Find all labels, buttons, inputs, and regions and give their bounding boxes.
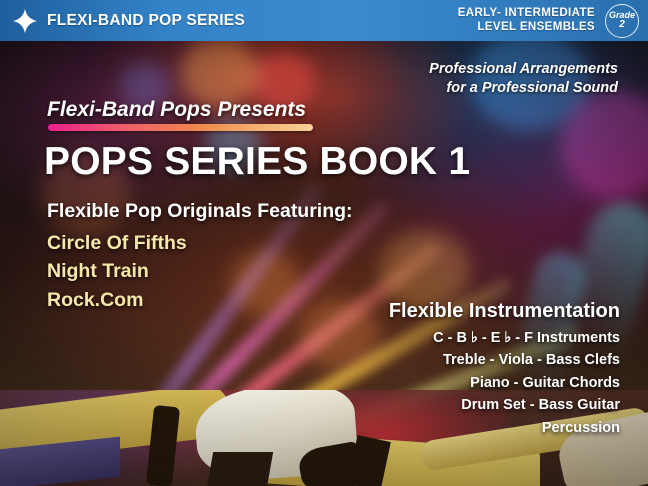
list-item: C - B ♭ - E ♭ - F Instruments (433, 327, 620, 349)
level-label: EARLY- INTERMEDIATE LEVEL ENSEMBLES (458, 7, 595, 34)
brand-title: FLEXI-BAND POP SERIES (47, 12, 245, 30)
page-title: POPS SERIES BOOK 1 (44, 140, 470, 184)
grade-badge-number: 2 (619, 20, 625, 30)
header-bar: FLEXI-BAND POP SERIES EARLY- INTERMEDIAT… (0, 0, 648, 41)
instrumentation-list: C - B ♭ - E ♭ - F Instruments Treble - V… (433, 327, 620, 439)
tagline-line-1: Professional Arrangements (429, 60, 618, 79)
level-line-2: LEVEL ENSEMBLES (458, 21, 595, 35)
poster-cover: FLEXI-BAND POP SERIES EARLY- INTERMEDIAT… (0, 0, 648, 486)
featuring-heading: Flexible Pop Originals Featuring: (47, 200, 353, 223)
tagline: Professional Arrangements for a Professi… (429, 60, 618, 98)
instrumentation-heading: Flexible Instrumentation (389, 300, 620, 323)
list-item: Treble - Viola - Bass Clefs (433, 349, 620, 371)
list-item: Night Train (47, 257, 187, 285)
cover-content: Professional Arrangements for a Professi… (0, 0, 648, 486)
presents-line: Flexi-Band Pops Presents (47, 98, 306, 122)
list-item: Piano - Guitar Chords (433, 372, 620, 394)
list-item: Rock.Com (47, 286, 187, 314)
header-right-group: EARLY- INTERMEDIATE LEVEL ENSEMBLES Grad… (458, 4, 648, 38)
list-item: Drum Set - Bass Guitar (433, 394, 620, 416)
level-line-1: EARLY- INTERMEDIATE (458, 7, 595, 21)
grade-badge: Grade 2 (605, 4, 639, 38)
list-item: Circle Of Fifths (47, 229, 187, 257)
list-item: Percussion (433, 417, 620, 439)
tagline-line-2: for a Professional Sound (429, 79, 618, 98)
brand-lockup: FLEXI-BAND POP SERIES (0, 8, 245, 34)
four-point-star-icon (12, 8, 38, 34)
song-list: Circle Of Fifths Night Train Rock.Com (47, 229, 187, 314)
gradient-divider (48, 124, 313, 131)
